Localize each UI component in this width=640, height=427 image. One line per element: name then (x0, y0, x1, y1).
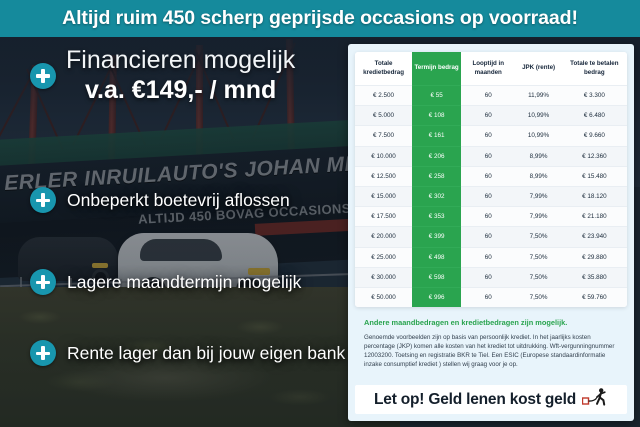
table-row: € 30.000€ 598607,50%€ 35.880 (355, 267, 627, 287)
table-row: € 7.500€ 1616010,99%€ 9.660 (355, 126, 627, 146)
table-cell-r7-c3: 7,50% (515, 227, 561, 247)
table-cell-r5-c4: € 18.120 (562, 186, 627, 206)
benefit-label: Rente lager dan bij jouw eigen bank (67, 343, 345, 364)
table-cell-r8-c1: € 498 (412, 247, 461, 267)
plus-icon (30, 63, 56, 89)
finance-table: Totale kredietbedrag Termijn bedrag Loop… (355, 52, 627, 307)
table-cell-r6-c0: € 17.500 (355, 207, 412, 227)
table-cell-r1-c0: € 5.000 (355, 106, 412, 126)
table-cell-r8-c2: 60 (461, 247, 515, 267)
table-cell-r2-c1: € 161 (412, 126, 461, 146)
table-row: € 17.500€ 353607,99%€ 21.180 (355, 207, 627, 227)
table-cell-r10-c4: € 59.760 (562, 287, 627, 307)
table-cell-r7-c4: € 23.940 (562, 227, 627, 247)
table-cell-r3-c0: € 10.000 (355, 146, 412, 166)
table-cell-r5-c1: € 302 (412, 186, 461, 206)
table-cell-r9-c0: € 30.000 (355, 267, 412, 287)
table-cell-r8-c0: € 25.000 (355, 247, 412, 267)
table-cell-r10-c2: 60 (461, 287, 515, 307)
table-row: € 12.500€ 258608,99%€ 15.480 (355, 166, 627, 186)
table-cell-r5-c2: 60 (461, 186, 515, 206)
finance-table-card: Totale kredietbedrag Termijn bedrag Loop… (348, 44, 634, 421)
table-cell-r4-c0: € 12.500 (355, 166, 412, 186)
table-cell-r0-c0: € 2.500 (355, 86, 412, 106)
finance-promo-banner: Altijd ruim 450 scherp geprijsde occasio… (0, 0, 640, 427)
hero-line-2: v.a. €149,- / mnd (66, 75, 295, 106)
column-header-totale-kredietbedrag: Totale kredietbedrag (355, 52, 412, 86)
table-body: € 2.500€ 556011,99%€ 3.300€ 5.000€ 10860… (355, 86, 627, 308)
table-cell-r3-c3: 8,99% (515, 146, 561, 166)
table-cell-r0-c4: € 3.300 (562, 86, 627, 106)
table-cell-r9-c1: € 598 (412, 267, 461, 287)
table-cell-r1-c2: 60 (461, 106, 515, 126)
hero-offer: Financieren mogelijk v.a. €149,- / mnd (30, 45, 348, 106)
table-cell-r5-c3: 7,99% (515, 186, 561, 206)
table-row: € 20.000€ 399607,50%€ 23.940 (355, 227, 627, 247)
column-header-totale-te-betalen: Totale te betalen bedrag (562, 52, 627, 86)
table-cell-r0-c3: 11,99% (515, 86, 561, 106)
benefit-item-1: Lagere maandtermijn mogelijk (30, 269, 301, 295)
table-cell-r0-c2: 60 (461, 86, 515, 106)
table-cell-r6-c2: 60 (461, 207, 515, 227)
table-cell-r10-c1: € 996 (412, 287, 461, 307)
plus-icon (30, 269, 56, 295)
table-cell-r9-c3: 7,50% (515, 267, 561, 287)
table-row: € 5.000€ 1086010,99%€ 6.480 (355, 106, 627, 126)
table-cell-r9-c2: 60 (461, 267, 515, 287)
table-cell-r6-c1: € 353 (412, 207, 461, 227)
headline-bar: Altijd ruim 450 scherp geprijsde occasio… (0, 0, 640, 37)
table-cell-r4-c4: € 15.480 (562, 166, 627, 186)
table-cell-r10-c0: € 50.000 (355, 287, 412, 307)
headline-text: Altijd ruim 450 scherp geprijsde occasio… (62, 7, 578, 30)
hero-line-1: Financieren mogelijk (66, 45, 295, 75)
table-row: € 50.000€ 996607,50%€ 59.760 (355, 287, 627, 307)
table-row: € 15.000€ 302607,99%€ 18.120 (355, 186, 627, 206)
table-cell-r4-c2: 60 (461, 166, 515, 186)
table-row: € 2.500€ 556011,99%€ 3.300 (355, 86, 627, 106)
table-cell-r10-c3: 7,50% (515, 287, 561, 307)
table-cell-r9-c4: € 35.880 (562, 267, 627, 287)
table-cell-r1-c1: € 108 (412, 106, 461, 126)
warning-bar: Let op! Geld lenen kost geld (355, 385, 627, 414)
finance-table-wrapper: Totale kredietbedrag Termijn bedrag Loop… (355, 52, 627, 307)
table-cell-r7-c2: 60 (461, 227, 515, 247)
table-row: € 10.000€ 206608,99%€ 12.360 (355, 146, 627, 166)
table-cell-r5-c0: € 15.000 (355, 186, 412, 206)
table-cell-r6-c4: € 21.180 (562, 207, 627, 227)
column-header-jpk: JPK (rente) (515, 52, 561, 86)
benefit-item-2: Rente lager dan bij jouw eigen bank (30, 340, 345, 366)
table-cell-r7-c0: € 20.000 (355, 227, 412, 247)
table-row: € 25.000€ 498607,50%€ 29.880 (355, 247, 627, 267)
table-cell-r3-c1: € 206 (412, 146, 461, 166)
table-cell-r1-c4: € 6.480 (562, 106, 627, 126)
benefits-column: Financieren mogelijk v.a. €149,- / mnd O… (0, 37, 348, 427)
disclaimer-title: Andere maandbedragen en kredietbedragen … (364, 318, 618, 328)
table-cell-r7-c1: € 399 (412, 227, 461, 247)
benefit-label: Onbeperkt boetevrij aflossen (67, 190, 290, 211)
table-cell-r2-c3: 10,99% (515, 126, 561, 146)
benefit-label: Lagere maandtermijn mogelijk (67, 272, 301, 293)
column-header-termijn-bedrag: Termijn bedrag (412, 52, 461, 86)
walking-man-with-ball-and-chain-icon (582, 388, 608, 412)
benefit-item-0: Onbeperkt boetevrij aflossen (30, 187, 290, 213)
table-cell-r3-c2: 60 (461, 146, 515, 166)
disclaimer-body: Genoemde voorbeelden zijn op basis van p… (364, 333, 618, 369)
disclaimer-block: Andere maandbedragen en kredietbedragen … (355, 307, 627, 369)
table-cell-r8-c4: € 29.880 (562, 247, 627, 267)
table-head: Totale kredietbedrag Termijn bedrag Loop… (355, 52, 627, 86)
table-cell-r6-c3: 7,99% (515, 207, 561, 227)
table-cell-r4-c3: 8,99% (515, 166, 561, 186)
table-cell-r3-c4: € 12.360 (562, 146, 627, 166)
warning-text: Let op! Geld lenen kost geld (374, 391, 576, 409)
plus-icon (30, 340, 56, 366)
table-cell-r1-c3: 10,99% (515, 106, 561, 126)
table-cell-r2-c2: 60 (461, 126, 515, 146)
table-cell-r2-c4: € 9.660 (562, 126, 627, 146)
table-header-row: Totale kredietbedrag Termijn bedrag Loop… (355, 52, 627, 86)
plus-icon (30, 187, 56, 213)
table-cell-r8-c3: 7,50% (515, 247, 561, 267)
table-cell-r0-c1: € 55 (412, 86, 461, 106)
column-header-looptijd: Looptijd in maanden (461, 52, 515, 86)
table-cell-r2-c0: € 7.500 (355, 126, 412, 146)
table-cell-r4-c1: € 258 (412, 166, 461, 186)
